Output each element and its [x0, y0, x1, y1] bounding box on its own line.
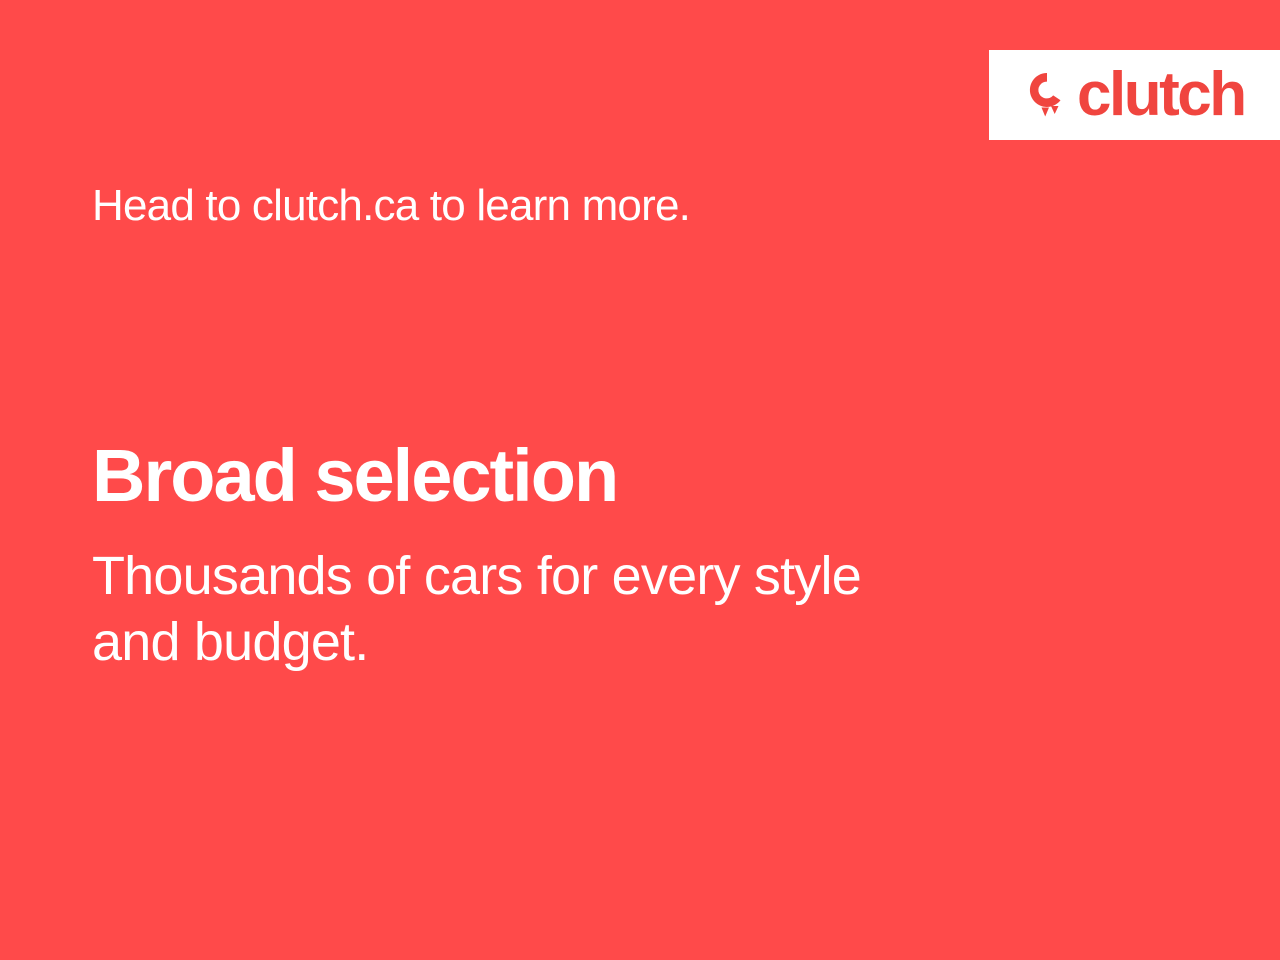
slide-canvas: clutch Head to clutch.ca to learn more. …: [0, 0, 1280, 960]
eyebrow-text: Head to clutch.ca to learn more.: [92, 178, 690, 234]
subcopy-block: Thousands of cars for every style and bu…: [92, 543, 861, 675]
subcopy-line: Thousands of cars for every style: [92, 543, 861, 609]
brand-logo-plate: clutch: [989, 50, 1280, 140]
clutch-wordmark: clutch: [1077, 67, 1245, 123]
subcopy-line: and budget.: [92, 609, 861, 675]
clutch-logo-lockup[interactable]: clutch: [1019, 67, 1245, 123]
clutch-c-mark-icon: [1019, 67, 1075, 123]
page-title: Broad selection: [92, 434, 617, 518]
